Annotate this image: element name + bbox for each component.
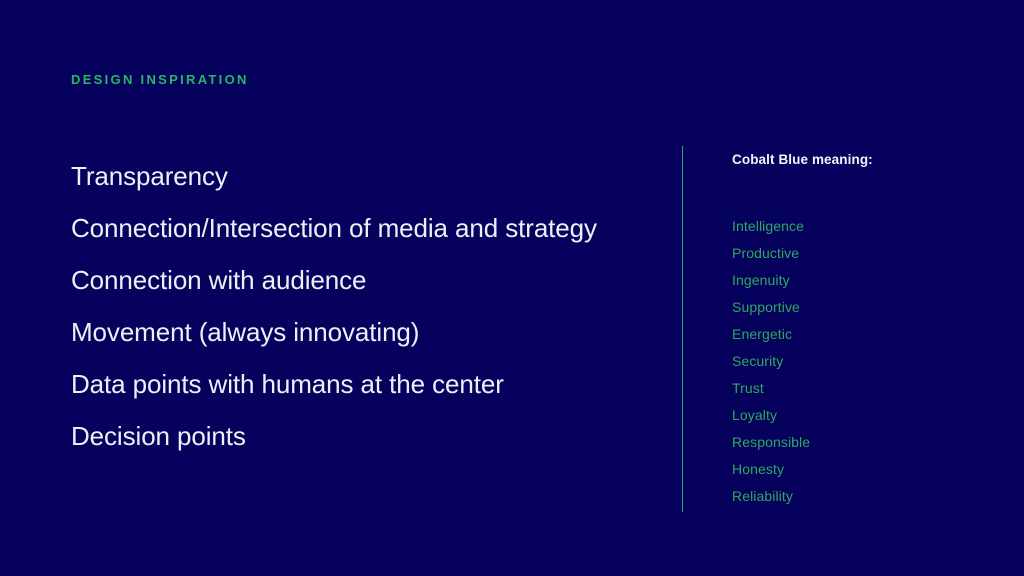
list-item: Ingenuity	[732, 273, 982, 287]
list-item: Data points with humans at the center	[71, 371, 651, 397]
list-item: Reliability	[732, 489, 982, 503]
vertical-divider	[682, 146, 683, 512]
design-inspiration-list: Transparency Connection/Intersection of …	[71, 163, 651, 449]
cobalt-blue-meaning-panel: Cobalt Blue meaning: Intelligence Produc…	[732, 153, 982, 503]
list-item: Trust	[732, 381, 982, 395]
list-item: Movement (always innovating)	[71, 319, 651, 345]
list-item: Energetic	[732, 327, 982, 341]
list-item: Connection/Intersection of media and str…	[71, 215, 651, 241]
list-item: Loyalty	[732, 408, 982, 422]
section-eyebrow-label: DESIGN INSPIRATION	[71, 72, 249, 87]
list-item: Transparency	[71, 163, 651, 189]
list-item: Productive	[732, 246, 982, 260]
list-item: Connection with audience	[71, 267, 651, 293]
list-item: Responsible	[732, 435, 982, 449]
list-item: Honesty	[732, 462, 982, 476]
sidebar-title: Cobalt Blue meaning:	[732, 153, 982, 167]
list-item: Security	[732, 354, 982, 368]
list-item: Intelligence	[732, 219, 982, 233]
list-item: Decision points	[71, 423, 651, 449]
slide-canvas: DESIGN INSPIRATION Transparency Connecti…	[0, 0, 1024, 576]
list-item: Supportive	[732, 300, 982, 314]
cobalt-blue-meaning-list: Intelligence Productive Ingenuity Suppor…	[732, 219, 982, 503]
